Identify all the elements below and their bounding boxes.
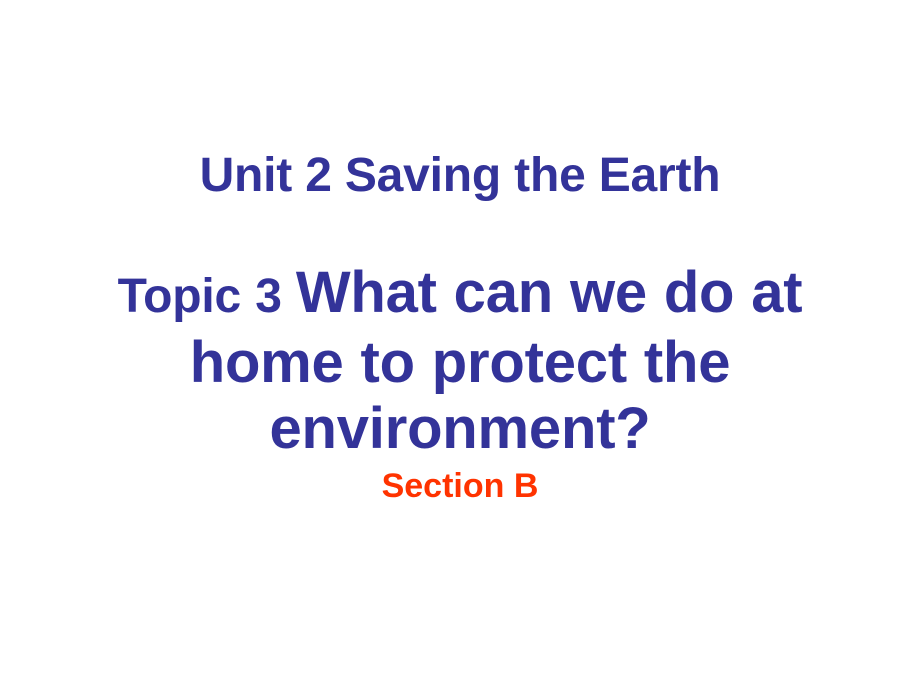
unit-title: Unit 2 Saving the Earth bbox=[0, 148, 920, 204]
title-spacer bbox=[0, 204, 920, 260]
presentation-slide: Unit 2 Saving the Earth Topic 3 What can… bbox=[0, 0, 920, 690]
section-label: Section B bbox=[0, 466, 920, 506]
topic-title: Topic 3 What can we do at home to protec… bbox=[0, 260, 920, 462]
slide-title-block: Unit 2 Saving the Earth Topic 3 What can… bbox=[0, 148, 920, 506]
topic-label: Topic 3 bbox=[118, 270, 296, 323]
